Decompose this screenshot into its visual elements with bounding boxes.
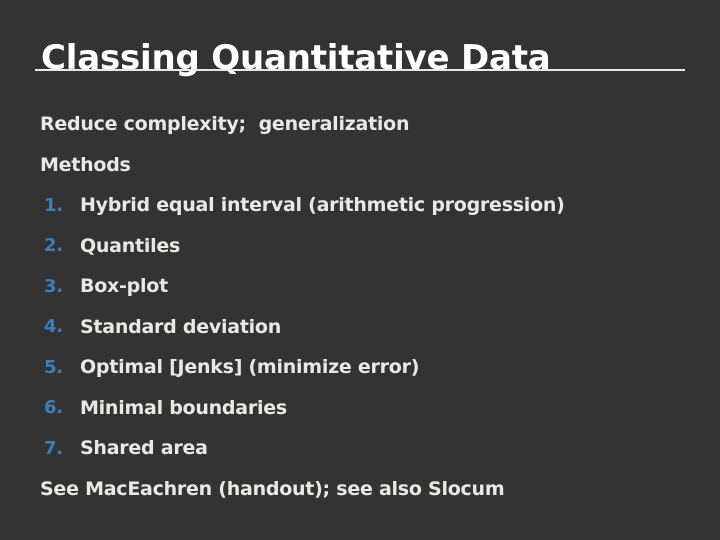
- list-item: 6. Minimal boundaries: [0, 388, 720, 429]
- list-item: 1. Hybrid equal interval (arithmetic pro…: [0, 185, 720, 226]
- page-title: Classing Quantitative Data: [41, 37, 681, 79]
- list-item: 2. Quantiles: [0, 226, 720, 267]
- list-item-label: Box-plot: [80, 275, 168, 297]
- slide-body: Reduce complexity; generalization Method…: [0, 104, 720, 509]
- intro-line-methods: Methods: [0, 145, 720, 186]
- list-item-number: 3.: [44, 276, 80, 297]
- list-item-label: Standard deviation: [80, 316, 281, 338]
- intro-line-complexity: Reduce complexity; generalization: [0, 104, 720, 145]
- list-item-number: 1.: [44, 195, 80, 216]
- list-item: 7. Shared area: [0, 428, 720, 469]
- title-divider: [35, 69, 685, 71]
- list-item-label: Quantiles: [80, 235, 180, 257]
- list-item-number: 6.: [44, 397, 80, 418]
- footer-reference-line: See MacEachren (handout); see also Slocu…: [0, 469, 720, 510]
- list-item-number: 7.: [44, 438, 80, 459]
- list-item-label: Optimal [Jenks] (minimize error): [80, 356, 419, 378]
- slide-canvas: Classing Quantitative Data Reduce comple…: [0, 0, 720, 540]
- list-item-number: 2.: [44, 235, 80, 256]
- list-item-label: Shared area: [80, 437, 208, 459]
- list-item: 5. Optimal [Jenks] (minimize error): [0, 347, 720, 388]
- list-item-number: 5.: [44, 357, 80, 378]
- list-item: 3. Box-plot: [0, 266, 720, 307]
- list-item-label: Minimal boundaries: [80, 397, 287, 419]
- list-item: 4. Standard deviation: [0, 307, 720, 348]
- list-item-label: Hybrid equal interval (arithmetic progre…: [80, 194, 565, 216]
- list-item-number: 4.: [44, 316, 80, 337]
